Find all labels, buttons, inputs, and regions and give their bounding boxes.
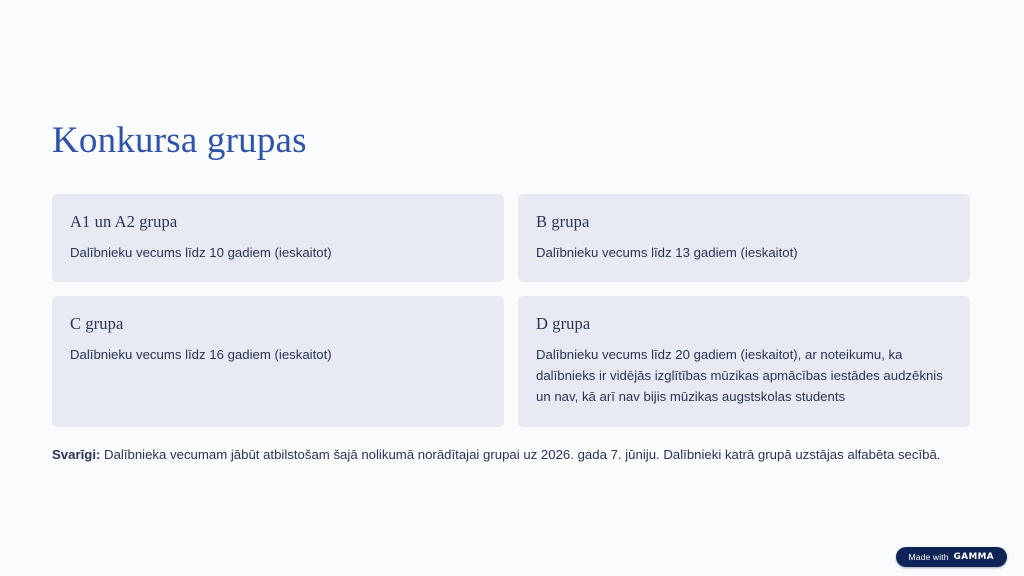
group-card-title: C grupa (70, 313, 486, 334)
group-card-title: A1 un A2 grupa (70, 211, 486, 232)
slide-content: Konkursa grupas A1 un A2 grupa Dalībniek… (52, 118, 970, 465)
group-card-c: C grupa Dalībnieku vecums līdz 16 gadiem… (52, 296, 504, 427)
slide-canvas: Konkursa grupas A1 un A2 grupa Dalībniek… (0, 0, 1024, 576)
page-title: Konkursa grupas (52, 118, 970, 164)
footnote-lead: Svarīgi: (52, 447, 100, 462)
group-card-grid: A1 un A2 grupa Dalībnieku vecums līdz 10… (52, 194, 970, 426)
group-card-b: B grupa Dalībnieku vecums līdz 13 gadiem… (518, 194, 970, 282)
group-card-a: A1 un A2 grupa Dalībnieku vecums līdz 10… (52, 194, 504, 282)
group-card-d: D grupa Dalībnieku vecums līdz 20 gadiem… (518, 296, 970, 427)
group-card-title: D grupa (536, 313, 952, 334)
badge-gamma-wordmark: GAMMA (954, 552, 994, 562)
group-card-description: Dalībnieku vecums līdz 13 gadiem (ieskai… (536, 242, 952, 263)
made-with-gamma-badge[interactable]: Made with GAMMA (896, 547, 1007, 567)
group-card-description: Dalībnieku vecums līdz 16 gadiem (ieskai… (70, 344, 486, 365)
group-card-description: Dalībnieku vecums līdz 20 gadiem (ieskai… (536, 344, 952, 408)
group-card-title: B grupa (536, 211, 952, 232)
footnote: Svarīgi: Dalībnieka vecumam jābūt atbils… (52, 445, 970, 465)
footnote-text: Dalībnieka vecumam jābūt atbilstošam šaj… (100, 447, 940, 462)
badge-made-with-label: Made with (909, 552, 949, 562)
group-card-description: Dalībnieku vecums līdz 10 gadiem (ieskai… (70, 242, 486, 263)
